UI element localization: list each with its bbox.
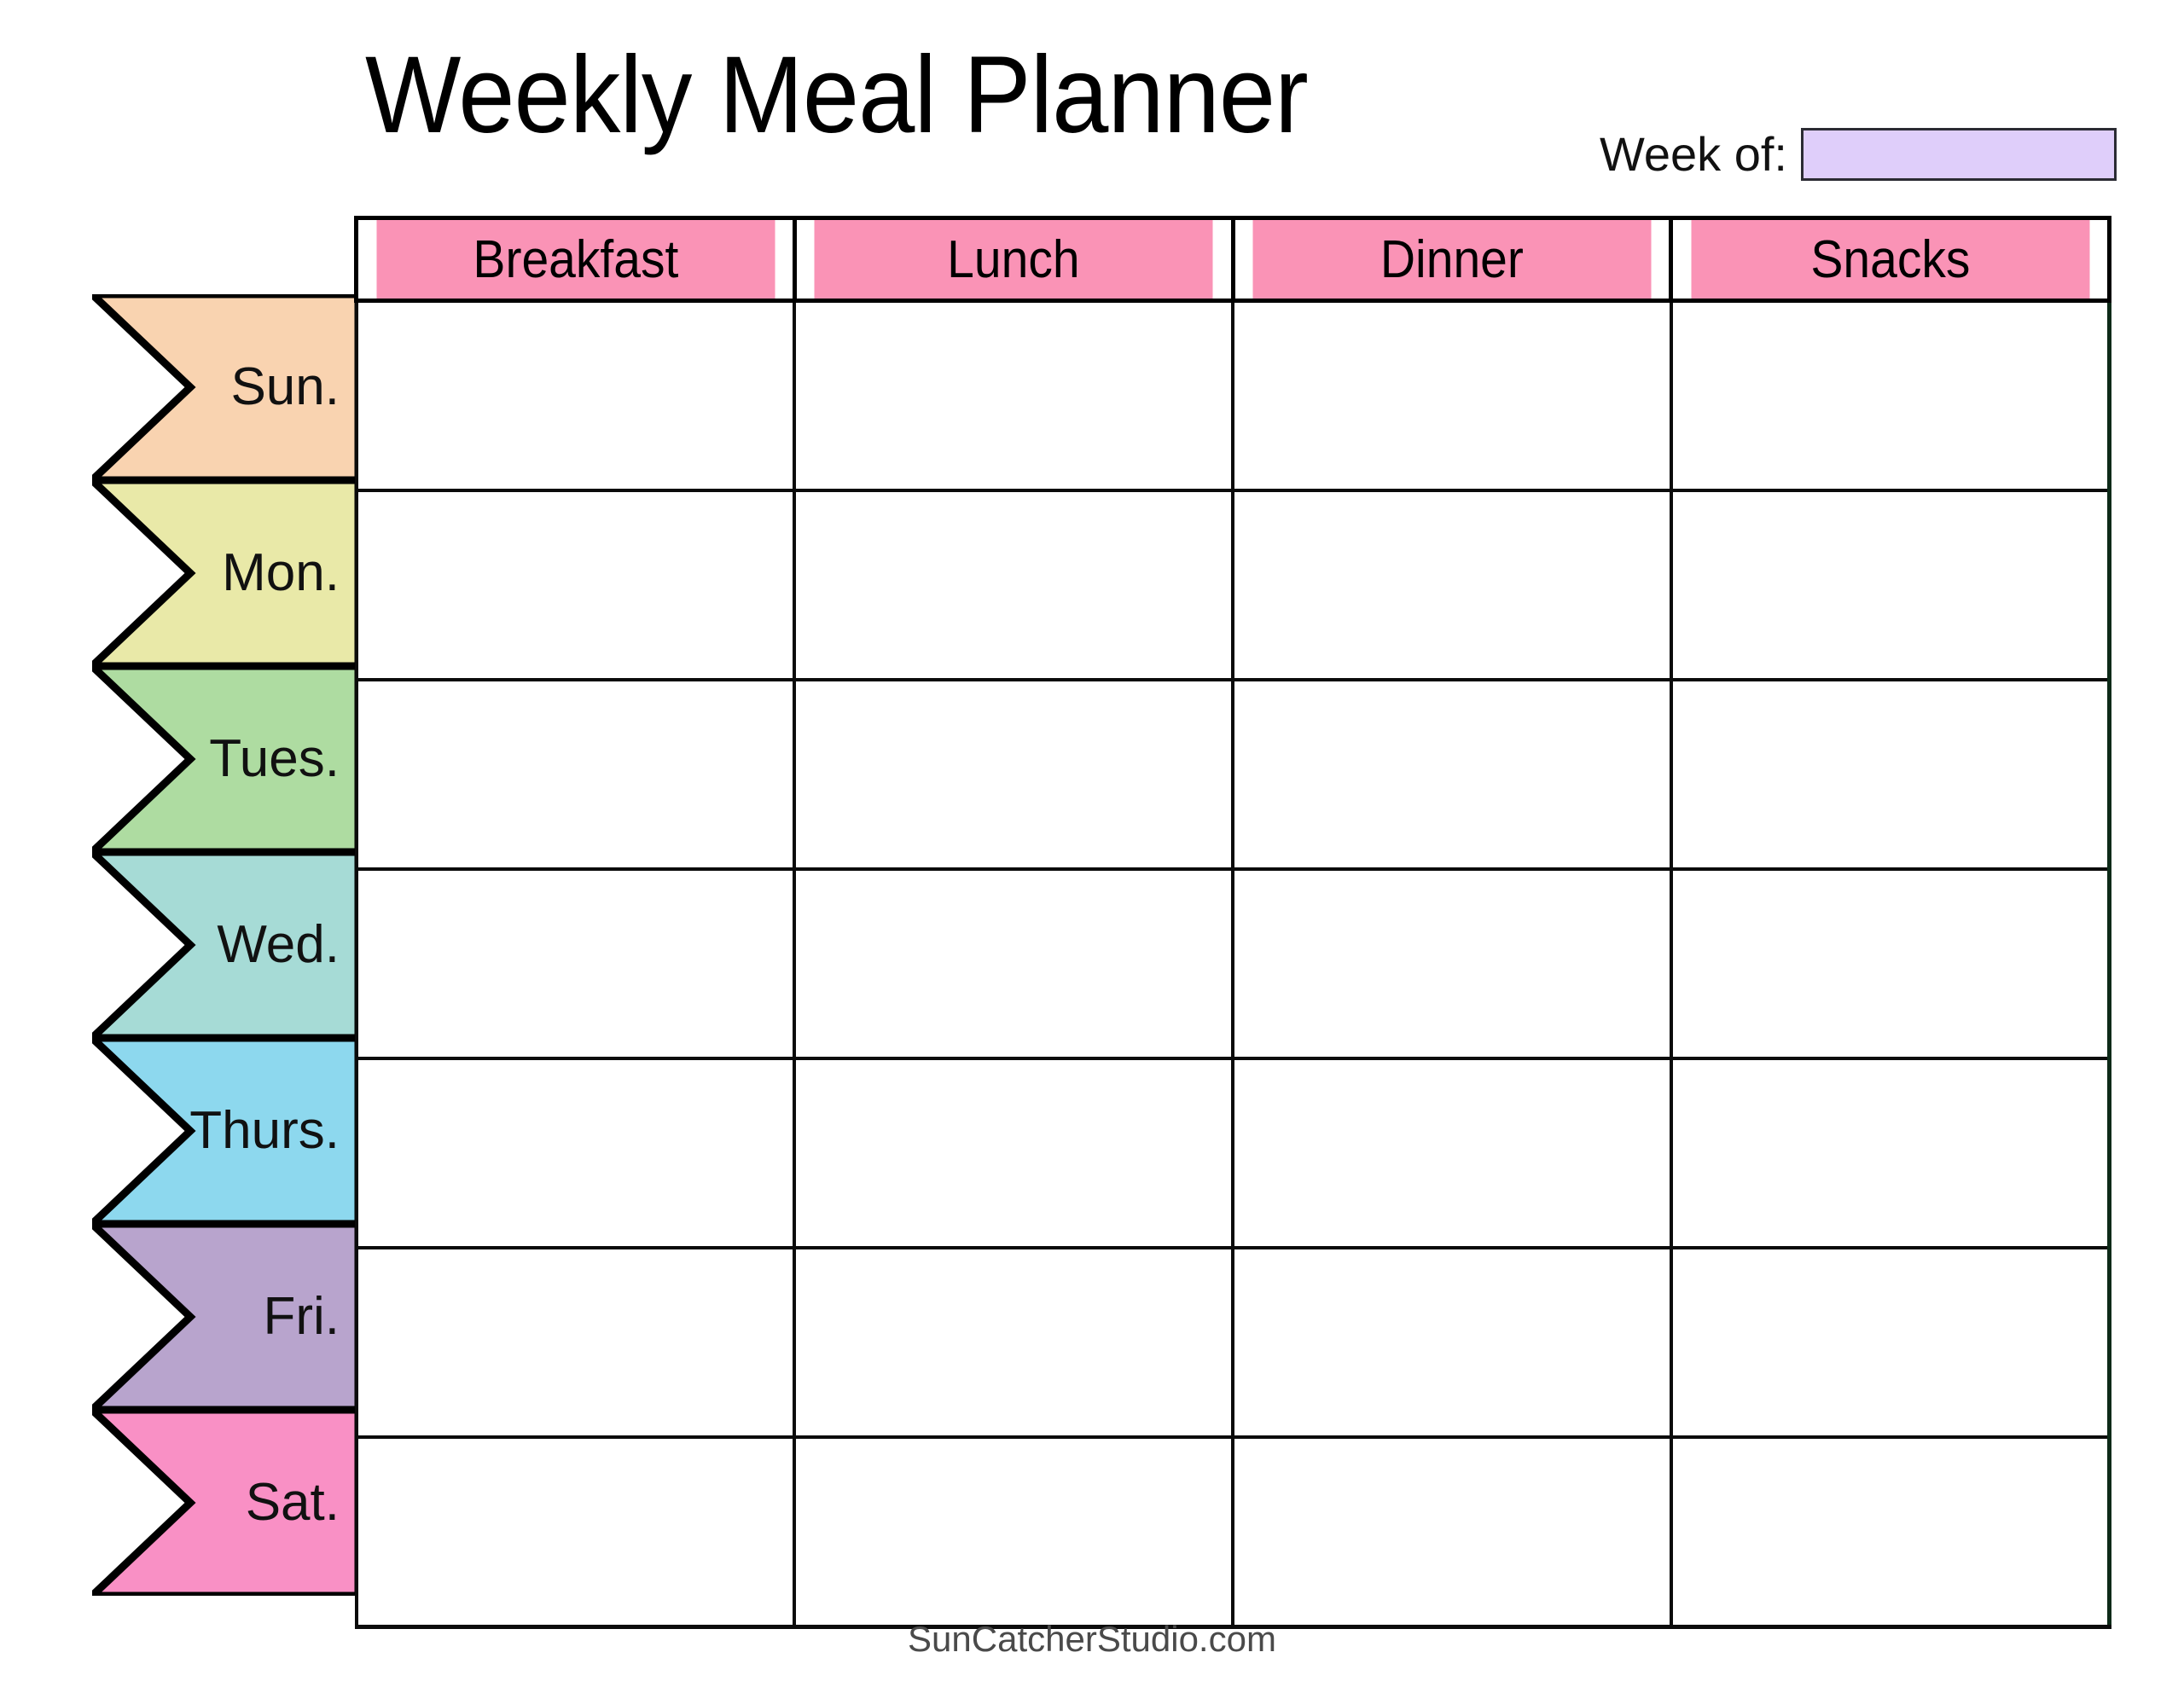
meal-input-wed-dinner[interactable] <box>1234 871 1670 1057</box>
meal-cell-mon-breakfast[interactable] <box>357 490 795 680</box>
meal-cell-sat-breakfast[interactable] <box>357 1437 795 1627</box>
meal-input-thurs-lunch[interactable] <box>796 1060 1231 1246</box>
column-header-label: Breakfast <box>473 229 678 290</box>
meal-input-tues-snacks[interactable] <box>1673 681 2107 867</box>
meal-cell-sat-lunch[interactable] <box>794 1437 1233 1627</box>
day-tab-label: Mon. <box>92 480 358 666</box>
page-title: Weekly Meal Planner <box>365 41 1308 150</box>
meal-cell-tues-snacks[interactable] <box>1671 680 2110 869</box>
meal-input-fri-snacks[interactable] <box>1673 1249 2107 1435</box>
meal-input-mon-snacks[interactable] <box>1673 492 2107 678</box>
meal-cell-fri-dinner[interactable] <box>1233 1248 1671 1437</box>
grid-row-wed <box>357 869 2110 1058</box>
meal-cell-fri-lunch[interactable] <box>794 1248 1233 1437</box>
day-tab-label: Sun. <box>92 294 358 480</box>
column-header-snacks: Snacks <box>1688 218 2092 301</box>
meal-cell-mon-snacks[interactable] <box>1671 490 2110 680</box>
day-tab-sat[interactable]: Sat. <box>92 1410 358 1596</box>
meal-cell-tues-dinner[interactable] <box>1233 680 1671 869</box>
day-tab-label: Wed. <box>92 852 358 1038</box>
day-tab-label: Tues. <box>92 666 358 852</box>
meal-cell-wed-breakfast[interactable] <box>357 869 795 1058</box>
column-header-lunch: Lunch <box>812 218 1216 301</box>
meal-cell-thurs-breakfast[interactable] <box>357 1058 795 1248</box>
meal-input-sat-breakfast[interactable] <box>358 1439 793 1625</box>
meal-input-mon-breakfast[interactable] <box>358 492 793 678</box>
column-header-breakfast: Breakfast <box>374 218 777 301</box>
meal-cell-fri-snacks[interactable] <box>1671 1248 2110 1437</box>
meal-input-tues-breakfast[interactable] <box>358 681 793 867</box>
page-header: Weekly Meal Planner Week of: <box>0 0 2184 213</box>
grid-header-row: BreakfastLunchDinnerSnacks <box>357 218 2110 301</box>
week-of-group: Week of: <box>1600 128 2117 181</box>
week-of-input[interactable] <box>1801 128 2117 181</box>
grid-row-fri <box>357 1248 2110 1437</box>
meal-cell-sat-snacks[interactable] <box>1671 1437 2110 1627</box>
meal-cell-mon-lunch[interactable] <box>794 490 1233 680</box>
meal-planner-grid: BreakfastLunchDinnerSnacks <box>354 216 2111 1629</box>
meal-cell-wed-snacks[interactable] <box>1671 869 2110 1058</box>
meal-cell-thurs-lunch[interactable] <box>794 1058 1233 1248</box>
grid-row-thurs <box>357 1058 2110 1248</box>
day-tab-tues[interactable]: Tues. <box>92 666 358 852</box>
meal-cell-sun-snacks[interactable] <box>1671 301 2110 491</box>
meal-input-sat-dinner[interactable] <box>1234 1439 1670 1625</box>
grid-row-mon <box>357 490 2110 680</box>
day-tab-label: Sat. <box>92 1410 358 1596</box>
meal-cell-sun-breakfast[interactable] <box>357 301 795 491</box>
meal-cell-thurs-snacks[interactable] <box>1671 1058 2110 1248</box>
meal-input-wed-breakfast[interactable] <box>358 871 793 1057</box>
meal-input-fri-lunch[interactable] <box>796 1249 1231 1435</box>
meal-input-sun-breakfast[interactable] <box>358 303 793 489</box>
meal-input-thurs-dinner[interactable] <box>1234 1060 1670 1246</box>
meal-input-sat-snacks[interactable] <box>1673 1439 2107 1625</box>
meal-input-thurs-snacks[interactable] <box>1673 1060 2107 1246</box>
meal-cell-mon-dinner[interactable] <box>1233 490 1671 680</box>
day-tab-sun[interactable]: Sun. <box>92 294 358 480</box>
grid-row-tues <box>357 680 2110 869</box>
meal-cell-wed-lunch[interactable] <box>794 869 1233 1058</box>
day-tab-label: Thurs. <box>92 1038 358 1224</box>
meal-cell-sun-dinner[interactable] <box>1233 301 1671 491</box>
meal-input-mon-dinner[interactable] <box>1234 492 1670 678</box>
meal-input-wed-lunch[interactable] <box>796 871 1231 1057</box>
meal-input-fri-dinner[interactable] <box>1234 1249 1670 1435</box>
day-tab-column: Sun.Mon.Tues.Wed.Thurs.Fri.Sat. <box>92 294 358 1596</box>
column-header-label: Lunch <box>947 229 1079 290</box>
meal-cell-sun-lunch[interactable] <box>794 301 1233 491</box>
week-of-label: Week of: <box>1600 129 1787 180</box>
day-tab-mon[interactable]: Mon. <box>92 480 358 666</box>
column-header-label: Dinner <box>1380 229 1524 290</box>
meal-input-sun-dinner[interactable] <box>1234 303 1670 489</box>
meal-input-tues-dinner[interactable] <box>1234 681 1670 867</box>
column-header-label: Snacks <box>1810 229 1970 290</box>
day-tab-thurs[interactable]: Thurs. <box>92 1038 358 1224</box>
meal-cell-tues-lunch[interactable] <box>794 680 1233 869</box>
day-tab-fri[interactable]: Fri. <box>92 1224 358 1410</box>
column-header-dinner: Dinner <box>1251 218 1654 301</box>
meal-input-sun-snacks[interactable] <box>1673 303 2107 489</box>
meal-cell-wed-dinner[interactable] <box>1233 869 1671 1058</box>
meal-cell-fri-breakfast[interactable] <box>357 1248 795 1437</box>
grid-row-sat <box>357 1437 2110 1627</box>
meal-input-sun-lunch[interactable] <box>796 303 1231 489</box>
meal-input-thurs-breakfast[interactable] <box>358 1060 793 1246</box>
meal-input-mon-lunch[interactable] <box>796 492 1231 678</box>
day-tab-label: Fri. <box>92 1224 358 1410</box>
meal-input-tues-lunch[interactable] <box>796 681 1231 867</box>
meal-input-sat-lunch[interactable] <box>796 1439 1231 1625</box>
meal-input-fri-breakfast[interactable] <box>358 1249 793 1435</box>
meal-cell-tues-breakfast[interactable] <box>357 680 795 869</box>
meal-cell-sat-dinner[interactable] <box>1233 1437 1671 1627</box>
meal-input-wed-snacks[interactable] <box>1673 871 2107 1057</box>
meal-cell-thurs-dinner[interactable] <box>1233 1058 1671 1248</box>
footer-credit: SunCatcherStudio.com <box>0 1619 2184 1660</box>
day-tab-wed[interactable]: Wed. <box>92 852 358 1038</box>
grid-row-sun <box>357 301 2110 491</box>
